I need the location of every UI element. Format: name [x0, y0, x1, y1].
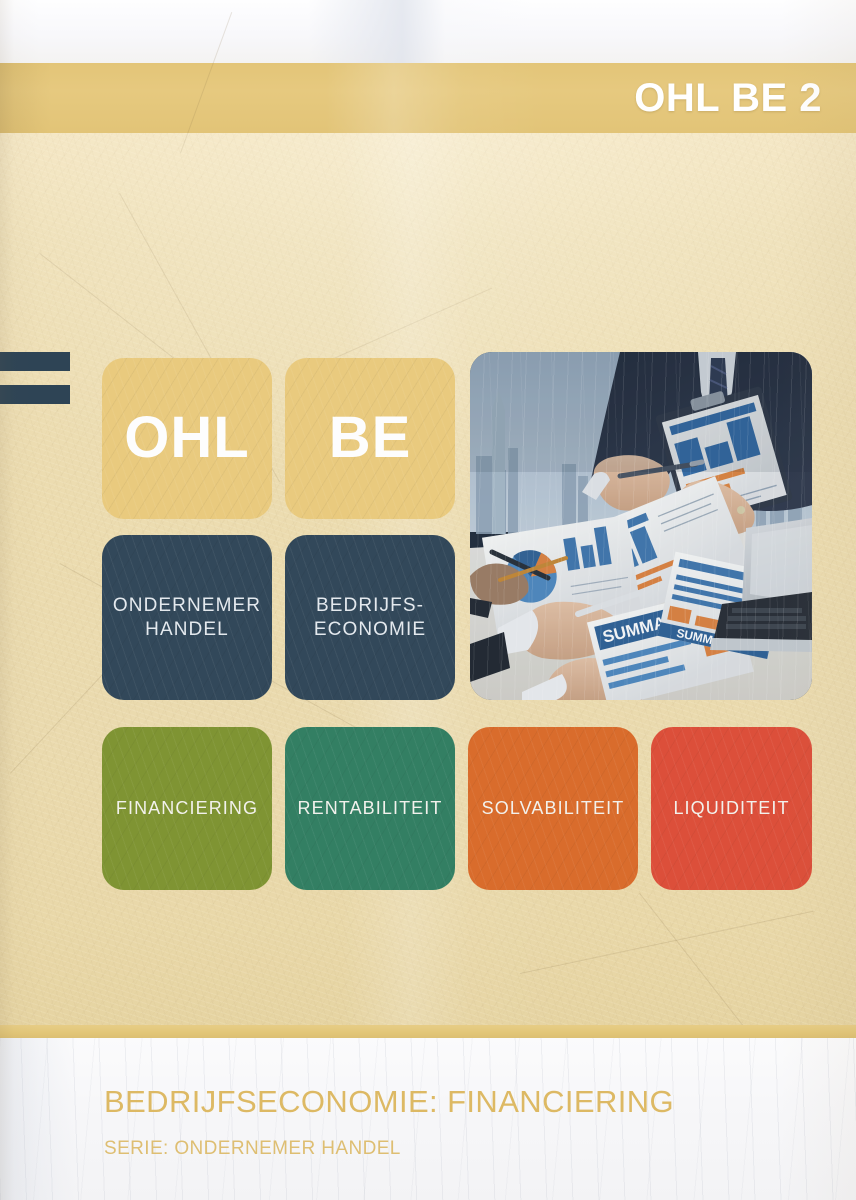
tile-be: BE [285, 358, 455, 519]
book-cover: OHL BE 2 OHL BE ONDERNEMER HANDEL BEDRIJ… [0, 0, 856, 1200]
tile-be-label: BE [329, 403, 412, 474]
cover-photo-illustration: SUMMARY REPORT [470, 352, 812, 700]
tile-bedrijfseconomie-label: BEDRIJFS- ECONOMIE [314, 594, 426, 640]
header-wordmark: OHL BE 2 [634, 76, 822, 121]
tile-ondernemer-handel-label: ONDERNEMER HANDEL [113, 594, 261, 640]
tile-financiering-label: FINANCIERING [116, 798, 258, 820]
tile-financiering: FINANCIERING [102, 727, 272, 890]
tile-ondernemer-handel: ONDERNEMER HANDEL [102, 535, 272, 700]
cover-photo-business-meeting: SUMMARY REPORT [470, 352, 812, 700]
cover-series-subtitle: SERIE: ONDERNEMER HANDEL [104, 1138, 804, 1160]
tile-rentabiliteit: RENTABILITEIT [285, 727, 455, 890]
spine-bar-upper [0, 352, 70, 371]
bottom-gold-band [0, 1025, 856, 1038]
tile-liquiditeit: LIQUIDITEIT [651, 727, 812, 890]
tile-solvabiliteit: SOLVABILITEIT [468, 727, 638, 890]
footer-text-block: BEDRIJFSECONOMIE: FINANCIERING SERIE: ON… [104, 1084, 804, 1160]
top-white-band [0, 0, 856, 63]
tile-ohl-label: OHL [124, 403, 249, 474]
cover-title: BEDRIJFSECONOMIE: FINANCIERING [104, 1084, 804, 1120]
tile-solvabiliteit-label: SOLVABILITEIT [482, 798, 625, 820]
spine-bar-lower [0, 385, 70, 404]
tile-ohl: OHL [102, 358, 272, 519]
tile-bedrijfseconomie: BEDRIJFS- ECONOMIE [285, 535, 455, 700]
tile-rentabiliteit-label: RENTABILITEIT [298, 798, 443, 820]
tile-liquiditeit-label: LIQUIDITEIT [673, 798, 789, 820]
